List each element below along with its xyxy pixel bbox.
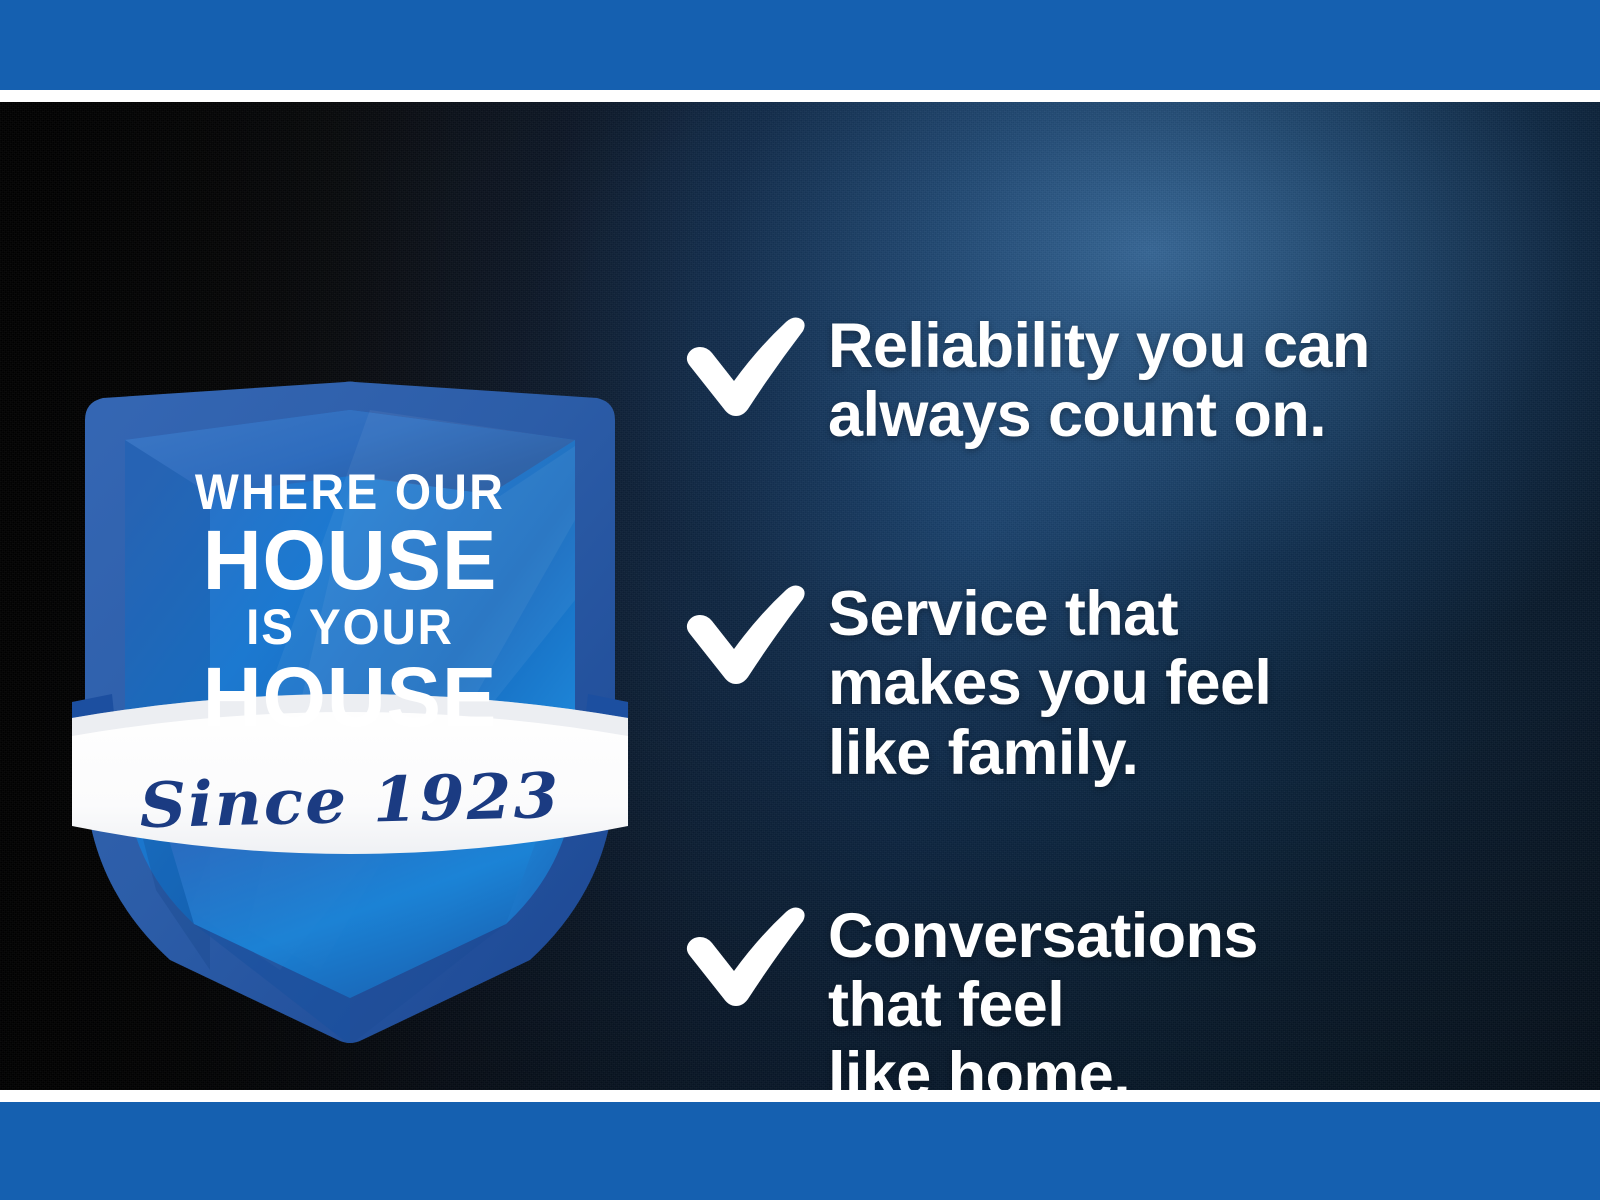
check-icon <box>670 576 820 688</box>
benefit-item-conversations: Conversations that feel like home. <box>670 898 1258 1090</box>
benefit-text: Service that makes you feel like family. <box>828 576 1271 788</box>
company-badge: WHERE OUR HOUSE IS YOUR HOUSE Since 1923 <box>70 270 630 1070</box>
bottom-brand-bar <box>0 1102 1600 1200</box>
badge-line-house-1: HOUSE <box>78 518 621 602</box>
promo-graphic: WHERE OUR HOUSE IS YOUR HOUSE Since 1923… <box>0 0 1600 1200</box>
benefit-item-reliability: Reliability you can always count on. <box>670 308 1370 451</box>
badge-line-is-your: IS YOUR <box>84 602 616 652</box>
top-brand-bar <box>0 0 1600 90</box>
badge-ribbon-since-text: Since 1923 <box>58 763 642 839</box>
badge-line-where-our: WHERE OUR <box>90 467 611 517</box>
benefit-text: Conversations that feel like home. <box>828 898 1258 1090</box>
check-icon <box>670 898 820 1010</box>
top-divider-rule <box>0 90 1600 102</box>
benefit-text: Reliability you can always count on. <box>828 308 1370 451</box>
benefit-item-service: Service that makes you feel like family. <box>670 576 1271 788</box>
main-panel: WHERE OUR HOUSE IS YOUR HOUSE Since 1923… <box>0 102 1600 1090</box>
check-icon <box>670 308 820 420</box>
benefits-list: Reliability you can always count on. Ser… <box>670 204 1590 1090</box>
badge-line-house-2: HOUSE <box>78 655 621 739</box>
bottom-divider-rule <box>0 1090 1600 1102</box>
